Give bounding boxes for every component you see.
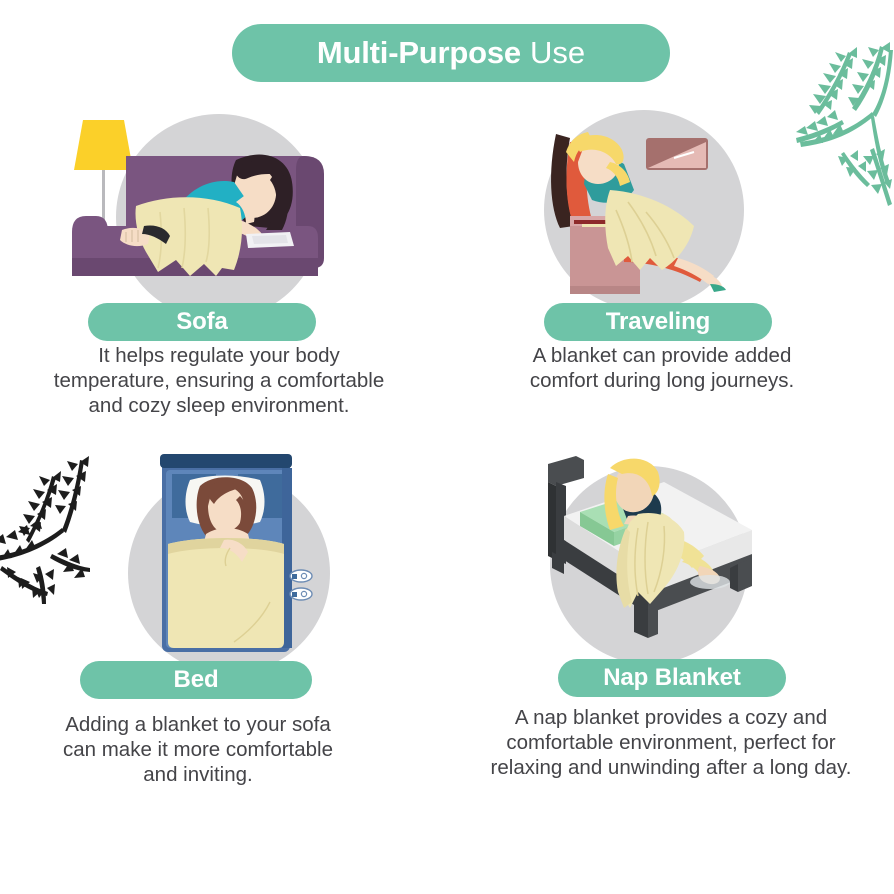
page-title-regular: Use [530, 35, 585, 71]
card-description-traveling: A blanket can provide added comfort duri… [500, 343, 824, 393]
illustration-sofa [8, 108, 420, 304]
card-label-traveling: Traveling [544, 303, 772, 341]
card-label-text: Nap Blanket [603, 664, 741, 692]
card-label-text: Traveling [606, 308, 710, 336]
illustration-traveling [478, 108, 878, 304]
card-label-bed: Bed [80, 661, 312, 699]
infographic-page: Multi-Purpose Use [0, 0, 894, 894]
card-label-text: Bed [173, 666, 218, 694]
page-title: Multi-Purpose Use [232, 24, 670, 82]
card-description-bed: Adding a blanket to your sofa can make i… [36, 712, 360, 787]
card-description-sofa: It helps regulate your body temperature,… [22, 343, 416, 418]
page-title-bold: Multi-Purpose [317, 35, 521, 71]
card-label-nap-blanket: Nap Blanket [558, 659, 786, 697]
illustration-bed [20, 452, 410, 652]
card-description-nap-blanket: A nap blanket provides a cozy and comfor… [462, 705, 880, 780]
card-label-text: Sofa [176, 308, 228, 336]
card-label-sofa: Sofa [88, 303, 316, 341]
illustration-nap-blanket [452, 452, 884, 652]
